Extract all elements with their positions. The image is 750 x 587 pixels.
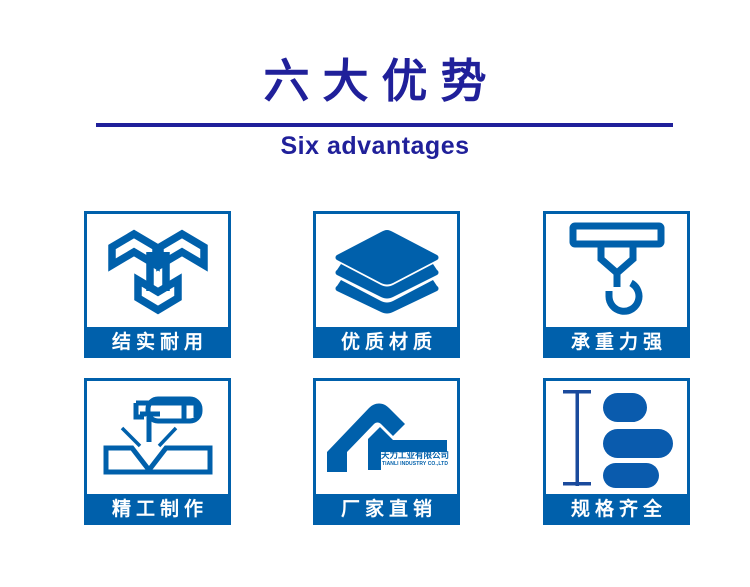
- company-name-cn: 天力工业有限公司: [374, 451, 456, 461]
- advantage-card-craft[interactable]: 精工制作: [84, 378, 231, 525]
- three-way-arrow-icon: [87, 214, 228, 327]
- advantage-card-load[interactable]: 承重力强: [543, 211, 690, 358]
- company-name-en: TIANLI INDUSTRY CO.,LTD: [374, 461, 456, 468]
- advantage-card-factory[interactable]: 天力工业有限公司 TIANLI INDUSTRY CO.,LTD 厂家直销: [313, 378, 460, 525]
- page-header: 六大优势 Six advantages: [0, 0, 750, 190]
- advantage-card-label: 厂家直销: [313, 494, 460, 525]
- advantage-card-sturdy[interactable]: 结实耐用: [84, 211, 231, 358]
- advantage-card-label: 规格齐全: [543, 494, 690, 525]
- laser-cutting-icon: [87, 381, 228, 494]
- factory-roof-logo-icon: [316, 381, 457, 494]
- advantage-card-label: 结实耐用: [84, 327, 231, 358]
- page-subtitle: Six advantages: [0, 129, 750, 163]
- advantage-card-material[interactable]: 优质材质: [313, 211, 460, 358]
- title-divider: [96, 123, 673, 127]
- stacked-layers-icon: [316, 214, 457, 327]
- company-logo-text: 天力工业有限公司 TIANLI INDUSTRY CO.,LTD: [374, 451, 456, 468]
- advantage-card-specs[interactable]: 规格齐全: [543, 378, 690, 525]
- crane-hook-icon: [546, 214, 687, 327]
- advantage-card-label: 精工制作: [84, 494, 231, 525]
- advantages-grid: 结实耐用 优质材质: [84, 211, 690, 523]
- size-chart-icon: [546, 381, 687, 494]
- advantage-card-label: 优质材质: [313, 327, 460, 358]
- page-title: 六大优势: [0, 53, 750, 109]
- advantage-card-label: 承重力强: [543, 327, 690, 358]
